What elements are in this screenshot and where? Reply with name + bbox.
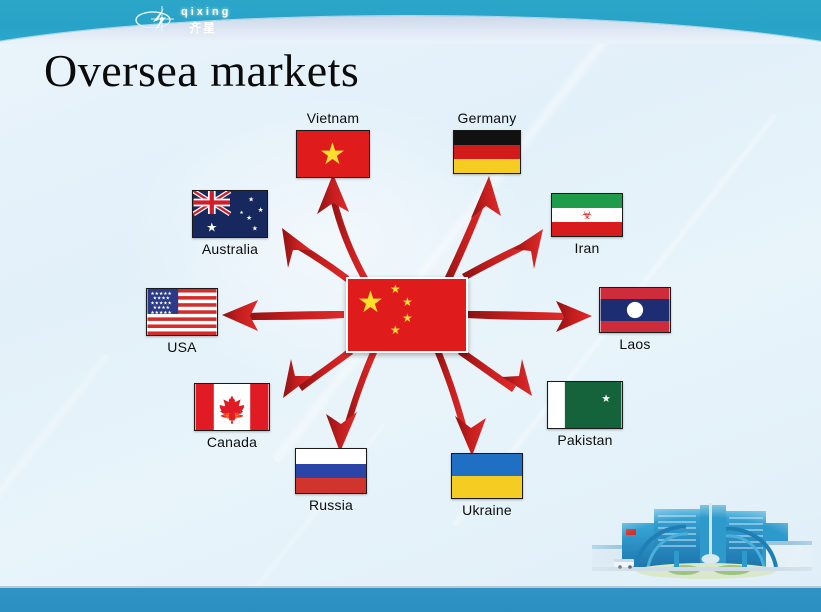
market-node-vietnam[interactable]: Vietnam ★ <box>273 110 393 178</box>
china-star-large: ★ <box>357 288 384 318</box>
ukraine-flag <box>451 453 523 499</box>
iran-flag: ☣ <box>551 193 623 237</box>
market-node-usa[interactable]: ★★★★★★★★★ ★★★★★★★★★ ★★★★★ USA <box>122 288 242 355</box>
svg-text:★: ★ <box>239 210 243 216</box>
market-node-germany[interactable]: Germany <box>427 110 547 174</box>
market-node-australia[interactable]: ★ ★ ★ ★ ★ ★ Australia <box>170 190 290 257</box>
usa-flag: ★★★★★★★★★ ★★★★★★★★★ ★★★★★ <box>146 288 218 336</box>
background-streak <box>0 351 113 612</box>
market-label-vietnam: Vietnam <box>273 110 393 126</box>
logo-hanzi: 齐星 <box>189 19 217 36</box>
page-title: Oversea markets <box>44 48 359 94</box>
star-swoosh-icon <box>133 5 179 33</box>
market-node-iran[interactable]: ☣ Iran <box>527 193 647 256</box>
company-logo: qixing 齐星 <box>133 2 245 36</box>
australia-flag: ★ ★ ★ ★ ★ ★ <box>192 190 268 238</box>
footer-band <box>0 586 821 612</box>
market-label-usa: USA <box>122 339 242 355</box>
svg-text:★★★★★: ★★★★★ <box>150 310 171 316</box>
vietnam-flag: ★ <box>296 130 370 178</box>
slide: qixing 齐星 Oversea markets <box>0 0 821 612</box>
market-label-germany: Germany <box>427 110 547 126</box>
market-label-laos: Laos <box>575 336 695 352</box>
china-star-small: ★ <box>390 324 401 336</box>
company-campus-photo <box>566 493 821 588</box>
china-star-small: ★ <box>402 312 413 324</box>
svg-text:★: ★ <box>258 206 264 214</box>
vietnam-star: ★ <box>319 140 346 170</box>
laos-flag <box>599 287 671 333</box>
market-node-laos[interactable]: Laos <box>575 287 695 352</box>
market-label-pakistan: Pakistan <box>525 432 645 448</box>
logo-romaji: qixing <box>181 6 231 18</box>
market-node-ukraine[interactable]: Ukraine <box>427 453 547 518</box>
svg-text:★: ★ <box>601 393 610 405</box>
pakistan-flag: ★ <box>547 381 623 429</box>
china-flag: ★ ★ ★ ★ ★ <box>346 277 468 353</box>
market-label-iran: Iran <box>527 240 647 256</box>
germany-flag <box>453 130 521 174</box>
market-label-ukraine: Ukraine <box>427 502 547 518</box>
market-label-russia: Russia <box>271 497 391 513</box>
market-node-russia[interactable]: Russia <box>271 448 391 513</box>
russia-flag <box>295 448 367 494</box>
svg-text:★: ★ <box>206 219 217 234</box>
market-node-canada[interactable]: 🍁 Canada <box>172 383 292 450</box>
canada-flag: 🍁 <box>194 383 270 431</box>
market-label-australia: Australia <box>170 241 290 257</box>
svg-text:★: ★ <box>252 224 258 232</box>
svg-text:★: ★ <box>246 214 252 222</box>
svg-text:★: ★ <box>248 196 254 204</box>
header-band <box>0 0 821 44</box>
china-star-small: ★ <box>402 296 413 308</box>
china-star-small: ★ <box>390 283 401 295</box>
market-node-pakistan[interactable]: ★ Pakistan <box>525 381 645 448</box>
